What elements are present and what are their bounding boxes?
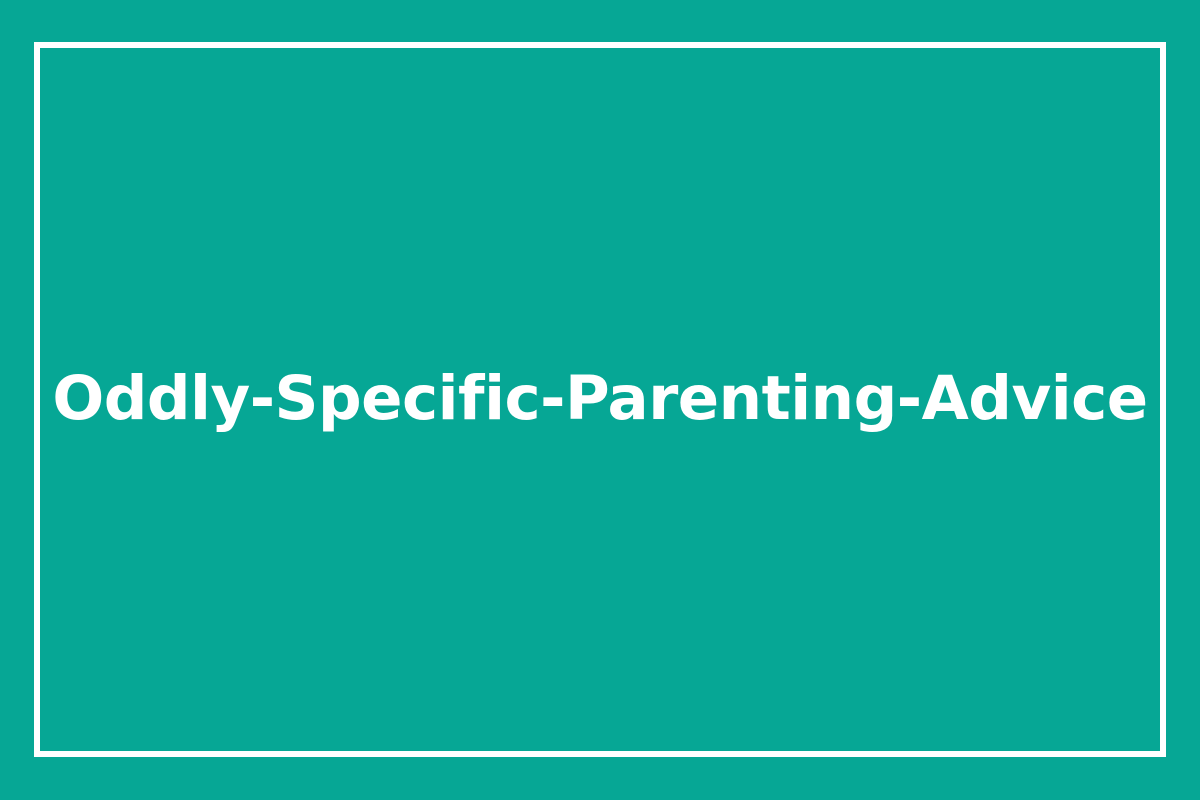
page-title: Oddly-Specific-Parenting-Advice (52, 366, 1147, 432)
banner-canvas: Oddly-Specific-Parenting-Advice (0, 0, 1200, 800)
title-container: Oddly-Specific-Parenting-Advice (34, 42, 1166, 757)
